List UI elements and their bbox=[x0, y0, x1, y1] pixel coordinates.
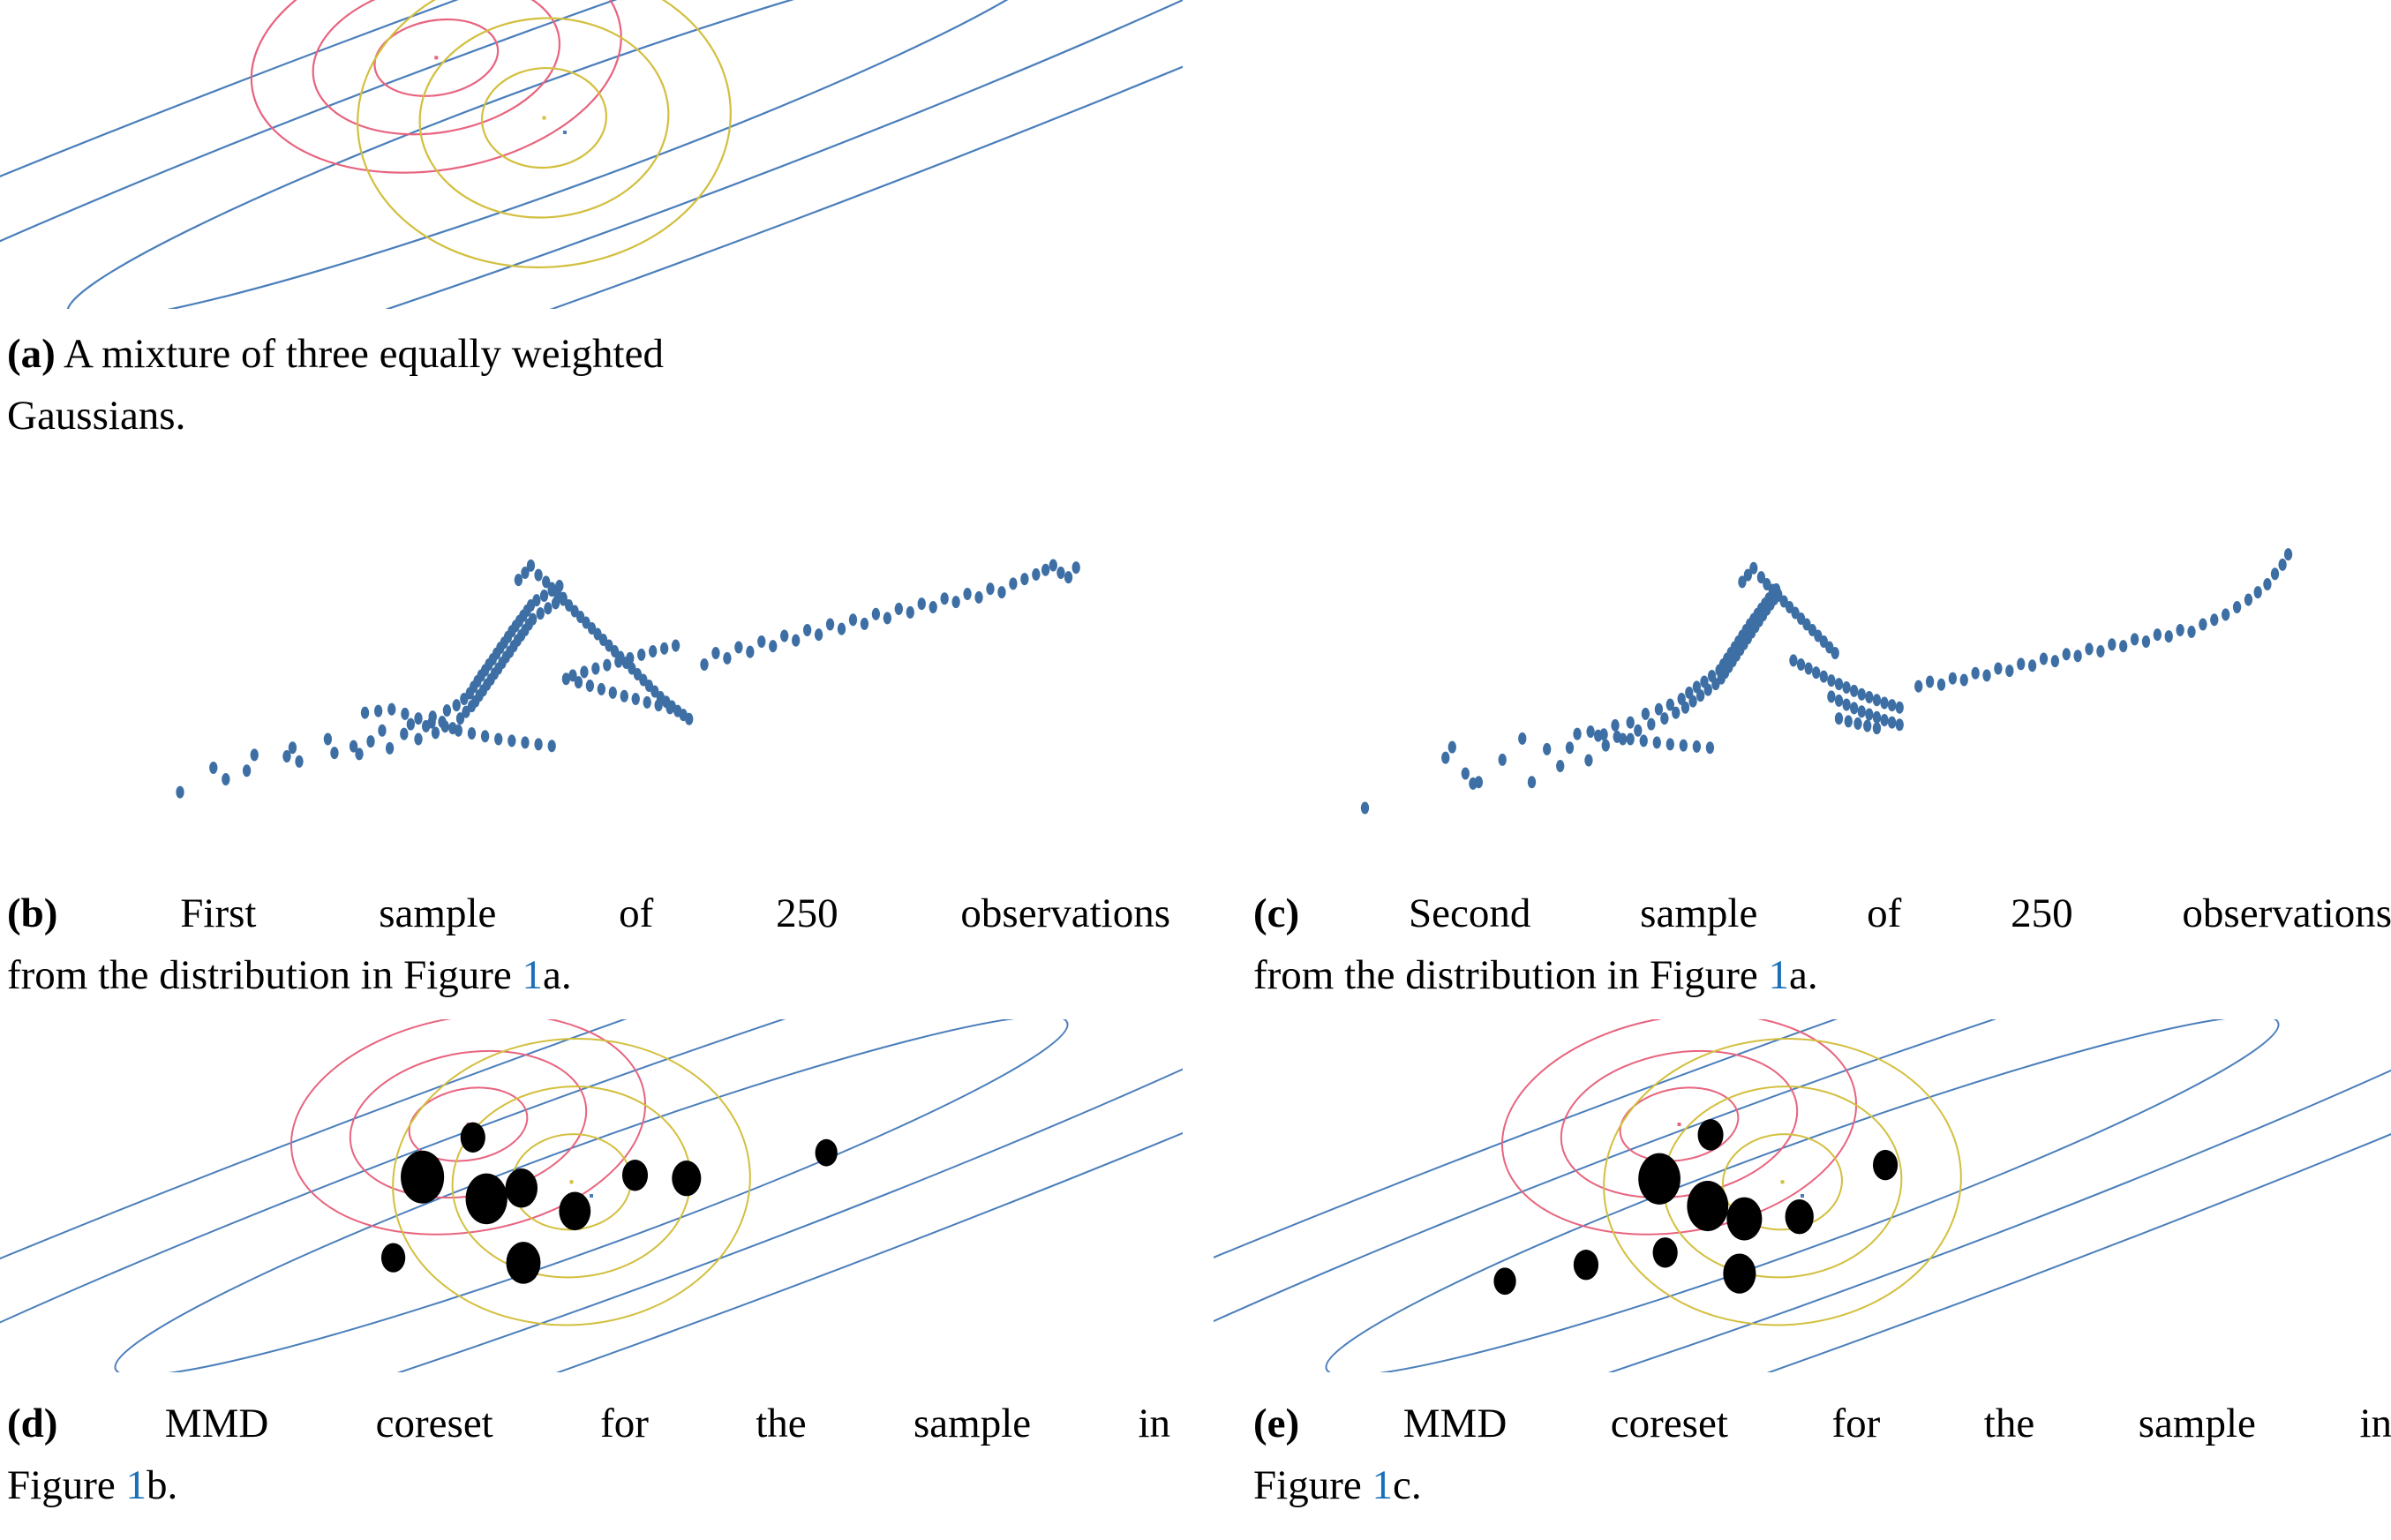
sample-point bbox=[1704, 684, 1712, 696]
sample-point bbox=[1914, 680, 1922, 693]
caption-c-line1: (c) Second sample of 250 observations bbox=[1253, 883, 2391, 944]
gaussian-contour-broad-correlated-gaussian bbox=[0, 0, 1183, 309]
sample-point bbox=[1831, 647, 1839, 659]
sample-point bbox=[534, 738, 542, 750]
caption-b-label: (b) bbox=[7, 890, 57, 936]
sample-point bbox=[1693, 740, 1701, 753]
sample-point bbox=[1827, 674, 1835, 687]
sample-point bbox=[386, 742, 394, 755]
sample-point bbox=[575, 676, 583, 688]
caption-c-text2-post: a. bbox=[1789, 952, 1818, 998]
sample-point bbox=[2165, 630, 2173, 642]
sample-point bbox=[441, 720, 449, 732]
caption-c: (c) Second sample of 250 observations fr… bbox=[1253, 883, 2391, 1006]
sample-point bbox=[481, 730, 489, 742]
sample-point bbox=[295, 755, 303, 768]
caption-e-figure-link[interactable]: 1 bbox=[1372, 1462, 1393, 1508]
sample-point bbox=[2063, 648, 2071, 660]
coreset-point bbox=[672, 1161, 701, 1196]
sample-point bbox=[527, 560, 535, 572]
coreset-point bbox=[1574, 1250, 1598, 1280]
sample-point bbox=[1863, 720, 1871, 732]
sample-point bbox=[548, 740, 556, 752]
coreset-point bbox=[1786, 1199, 1814, 1234]
sample-point bbox=[1586, 725, 1594, 738]
sample-point bbox=[1880, 714, 1888, 726]
sample-point bbox=[2210, 613, 2218, 626]
sample-point bbox=[1896, 718, 1904, 731]
sample-point bbox=[1888, 699, 1896, 711]
coreset-point bbox=[816, 1139, 838, 1167]
sample-point bbox=[1949, 672, 1957, 685]
sample-point bbox=[2278, 559, 2286, 571]
caption-d-figure-link[interactable]: 1 bbox=[125, 1462, 147, 1508]
component-mean-marker bbox=[1781, 1180, 1785, 1183]
caption-d-text2-pre: Figure bbox=[7, 1462, 125, 1508]
coreset-point bbox=[401, 1151, 444, 1204]
sample-point bbox=[609, 687, 617, 699]
sample-point bbox=[603, 659, 611, 672]
contour-ring bbox=[301, 0, 572, 153]
sample-point bbox=[2271, 567, 2279, 580]
sample-point bbox=[1888, 717, 1896, 729]
caption-c-line2: from the distribution in Figure 1a. bbox=[1253, 944, 2391, 1006]
sample-point bbox=[2040, 652, 2048, 665]
sample-point bbox=[443, 704, 451, 717]
sample-point bbox=[1462, 767, 1470, 779]
sample-point bbox=[1528, 776, 1536, 788]
sample-point bbox=[2199, 618, 2207, 630]
panel-c-svg bbox=[1214, 512, 2391, 865]
caption-b: (b) First sample of 250 observations fro… bbox=[7, 883, 1170, 1006]
sample-point bbox=[586, 680, 594, 692]
sample-point bbox=[1634, 725, 1642, 737]
sample-point bbox=[1842, 698, 1850, 710]
sample-point bbox=[883, 612, 891, 624]
sample-point bbox=[361, 707, 369, 719]
coreset-point bbox=[622, 1160, 648, 1191]
sample-point bbox=[672, 640, 680, 652]
sample-point bbox=[1873, 694, 1881, 706]
sample-point bbox=[1599, 728, 1607, 740]
component-mean-marker bbox=[590, 1194, 593, 1198]
sample-point bbox=[792, 635, 800, 647]
sample-point bbox=[626, 652, 634, 665]
sample-point bbox=[544, 602, 552, 614]
sample-point bbox=[1653, 736, 1661, 748]
coreset-point bbox=[466, 1174, 508, 1225]
sample-point bbox=[1797, 658, 1805, 671]
sample-point bbox=[1835, 678, 1843, 690]
sample-point bbox=[1041, 564, 1049, 576]
component-mean-marker bbox=[543, 116, 546, 120]
coreset-points bbox=[381, 1123, 838, 1284]
caption-c-figure-link[interactable]: 1 bbox=[1769, 952, 1790, 998]
panel-c-scatter-plot bbox=[1214, 512, 2391, 865]
panel-b-svg bbox=[0, 512, 1183, 865]
sample-point bbox=[378, 725, 386, 737]
caption-c-label: (c) bbox=[1253, 890, 1299, 936]
coreset-points bbox=[1493, 1119, 1898, 1295]
component-mean-marker bbox=[563, 131, 567, 134]
sample-point bbox=[660, 642, 668, 655]
sample-point bbox=[1858, 705, 1866, 717]
component-mean-marker bbox=[570, 1180, 574, 1183]
sample-point bbox=[929, 601, 937, 613]
sample-point bbox=[1926, 675, 1934, 687]
contour-ring bbox=[0, 0, 1183, 309]
sample-point bbox=[1020, 573, 1028, 585]
caption-b-figure-link[interactable]: 1 bbox=[523, 952, 544, 998]
sample-point bbox=[529, 613, 537, 626]
sample-point bbox=[243, 764, 251, 777]
sample-point bbox=[614, 656, 622, 668]
sample-point bbox=[2187, 626, 2195, 638]
panel-e-coreset-plot bbox=[1214, 1019, 2391, 1372]
sample-point bbox=[1556, 760, 1564, 772]
sample-point bbox=[1827, 690, 1835, 702]
figure-root: (a) A mixture of three equally weighted … bbox=[0, 0, 2391, 1540]
sample-points bbox=[176, 560, 1080, 799]
sample-point bbox=[2051, 655, 2059, 667]
sample-point bbox=[1627, 732, 1635, 745]
sample-point bbox=[468, 727, 476, 740]
caption-e-text1: MMD coreset for the sample in bbox=[1403, 1401, 2391, 1446]
sample-point bbox=[2284, 548, 2292, 560]
sample-point bbox=[330, 747, 338, 759]
sample-point bbox=[620, 690, 628, 702]
sample-point bbox=[1873, 722, 1881, 734]
coreset-point bbox=[507, 1242, 541, 1283]
caption-e-label: (e) bbox=[1253, 1401, 1299, 1446]
sample-point bbox=[643, 696, 651, 709]
panel-d-coreset-plot bbox=[0, 1019, 1183, 1372]
sample-point bbox=[2244, 594, 2252, 606]
sample-point bbox=[1584, 755, 1592, 767]
sample-point bbox=[826, 618, 834, 630]
sample-point bbox=[849, 613, 857, 626]
sample-point bbox=[1789, 654, 1797, 666]
coreset-point bbox=[506, 1168, 538, 1207]
caption-a-label: (a) bbox=[7, 331, 56, 377]
sample-point bbox=[1064, 571, 1072, 583]
sample-point bbox=[1688, 695, 1696, 708]
sample-point bbox=[711, 647, 719, 659]
caption-d-line1: (d) MMD coreset for the sample in bbox=[7, 1393, 1170, 1454]
caption-e-text2-pre: Figure bbox=[1253, 1462, 1372, 1508]
sample-point bbox=[1499, 754, 1507, 766]
caption-d-text2-post: b. bbox=[147, 1462, 177, 1508]
sample-point bbox=[515, 574, 523, 586]
sample-point bbox=[1749, 562, 1757, 575]
sample-point bbox=[1647, 718, 1655, 731]
caption-a: (a) A mixture of three equally weighted … bbox=[7, 323, 1170, 447]
caption-d-text1: MMD coreset for the sample in bbox=[165, 1401, 1170, 1446]
sample-point bbox=[414, 712, 422, 725]
caption-d-label: (d) bbox=[7, 1401, 57, 1446]
sample-point bbox=[1613, 731, 1620, 743]
caption-b-line1: (b) First sample of 250 observations bbox=[7, 883, 1170, 944]
gaussian-contour-upper-left-gaussian bbox=[1485, 1019, 1874, 1261]
sample-point bbox=[1441, 752, 1449, 764]
coreset-point bbox=[461, 1123, 485, 1153]
sample-point bbox=[951, 596, 959, 608]
sample-point bbox=[2005, 665, 2013, 677]
caption-d: (d) MMD coreset for the sample in Figure… bbox=[7, 1393, 1170, 1516]
sample-point bbox=[769, 640, 777, 652]
sample-point bbox=[1804, 663, 1812, 675]
sample-point bbox=[427, 717, 435, 729]
sample-point bbox=[453, 699, 461, 711]
sample-point bbox=[1611, 719, 1619, 732]
sample-point bbox=[1865, 709, 1873, 721]
sample-point bbox=[940, 592, 948, 605]
gaussian-contour-broad-correlated-gaussian bbox=[1214, 1019, 2391, 1372]
panel-a-contour-plot bbox=[0, 0, 1183, 309]
panel-e-svg bbox=[1214, 1019, 2391, 1372]
coreset-point bbox=[1726, 1198, 1762, 1241]
sample-point bbox=[1602, 740, 1610, 752]
sample-point bbox=[637, 649, 645, 661]
sample-point bbox=[685, 713, 693, 725]
sample-point bbox=[1845, 715, 1853, 727]
caption-b-text2-pre: from the distribution in Figure bbox=[7, 952, 523, 998]
sample-point bbox=[414, 732, 422, 745]
component-mean-marker bbox=[1678, 1123, 1681, 1126]
sample-point bbox=[1666, 738, 1674, 750]
sample-point bbox=[1660, 712, 1668, 725]
sample-point bbox=[366, 735, 374, 747]
gaussian-contour-broad-correlated-gaussian bbox=[0, 1019, 1183, 1372]
panel-d-svg bbox=[0, 1019, 1183, 1372]
sample-point bbox=[1873, 711, 1881, 724]
sample-point bbox=[1448, 741, 1456, 754]
sample-point bbox=[734, 641, 742, 653]
coreset-point bbox=[1698, 1119, 1724, 1150]
sample-point bbox=[2154, 628, 2162, 641]
sample-point bbox=[918, 597, 926, 610]
sample-point bbox=[455, 725, 462, 737]
sample-point bbox=[534, 569, 542, 582]
contour-ring bbox=[348, 0, 741, 280]
sample-point bbox=[1850, 702, 1858, 714]
sample-point bbox=[2073, 650, 2081, 662]
sample-point bbox=[1680, 740, 1688, 752]
sample-point bbox=[521, 736, 529, 748]
sample-point bbox=[2096, 645, 2104, 657]
sample-point bbox=[906, 606, 914, 619]
sample-point bbox=[861, 618, 868, 630]
sample-point bbox=[591, 663, 599, 675]
sample-point bbox=[2233, 601, 2241, 613]
sample-point bbox=[1960, 674, 1968, 687]
sample-point bbox=[540, 590, 548, 602]
sample-point bbox=[2222, 608, 2229, 620]
sample-point bbox=[2254, 586, 2262, 598]
caption-e-line1: (e) MMD coreset for the sample in bbox=[1253, 1393, 2391, 1454]
sample-point bbox=[289, 741, 297, 754]
sample-point bbox=[532, 594, 540, 606]
panel-b-scatter-plot bbox=[0, 512, 1183, 865]
sample-point bbox=[974, 591, 982, 604]
coreset-point bbox=[381, 1243, 405, 1272]
sample-point bbox=[1655, 703, 1663, 716]
sample-point bbox=[598, 683, 605, 695]
sample-point bbox=[401, 708, 409, 720]
caption-e-text2-post: c. bbox=[1393, 1462, 1422, 1508]
sample-point bbox=[757, 635, 765, 648]
caption-e-line2: Figure 1c. bbox=[1253, 1454, 2391, 1516]
component-mean-marker bbox=[434, 56, 438, 59]
sample-point bbox=[1573, 728, 1581, 740]
sample-point bbox=[1858, 688, 1866, 701]
caption-e: (e) MMD coreset for the sample in Figure… bbox=[1253, 1393, 2391, 1516]
sample-point bbox=[963, 588, 971, 600]
sample-point bbox=[1937, 679, 1945, 691]
sample-point bbox=[1566, 741, 1574, 754]
sample-point bbox=[1009, 577, 1017, 590]
sample-point bbox=[780, 629, 788, 642]
component-mean-marker bbox=[1801, 1194, 1804, 1198]
sample-point bbox=[2085, 642, 2093, 655]
caption-a-line2: Gaussians. bbox=[7, 385, 1170, 447]
sample-point bbox=[176, 786, 184, 799]
sample-point bbox=[803, 624, 811, 636]
sample-point bbox=[2142, 635, 2150, 648]
coreset-point bbox=[1687, 1181, 1728, 1231]
coreset-point bbox=[1873, 1150, 1898, 1180]
sample-point bbox=[1640, 734, 1648, 747]
sample-point bbox=[1971, 667, 1979, 680]
sample-point bbox=[1049, 560, 1057, 572]
sample-point bbox=[746, 646, 754, 658]
sample-point bbox=[1475, 776, 1483, 788]
sample-point bbox=[1706, 741, 1714, 754]
sample-point bbox=[355, 747, 363, 760]
sample-point bbox=[1835, 712, 1843, 725]
sample-point bbox=[815, 628, 823, 641]
sample-point bbox=[1994, 663, 2002, 675]
sample-point bbox=[997, 586, 1005, 598]
sample-point bbox=[2131, 633, 2139, 645]
caption-c-text1: Second sample of 250 observations bbox=[1409, 890, 2391, 936]
sample-points bbox=[1361, 548, 2292, 814]
caption-b-line2: from the distribution in Figure 1a. bbox=[7, 944, 1170, 1006]
sample-point bbox=[209, 762, 217, 774]
sample-point bbox=[1896, 702, 1904, 714]
sample-point bbox=[723, 652, 731, 665]
sample-point bbox=[407, 718, 415, 731]
sample-point bbox=[1672, 707, 1680, 719]
sample-point bbox=[1518, 732, 1526, 745]
sample-point bbox=[222, 773, 229, 785]
caption-b-text1: First sample of 250 observations bbox=[180, 890, 1170, 936]
coreset-point bbox=[1493, 1267, 1515, 1295]
sample-point bbox=[1032, 568, 1040, 581]
sample-point bbox=[1842, 681, 1850, 694]
caption-a-line1: (a) A mixture of three equally weighted bbox=[7, 323, 1170, 385]
sample-point bbox=[1543, 743, 1551, 755]
contour-ring bbox=[1485, 1019, 1874, 1261]
caption-c-text2-pre: from the distribution in Figure bbox=[1253, 952, 1769, 998]
panel-a-svg bbox=[0, 0, 1183, 309]
sample-point bbox=[1865, 691, 1873, 703]
sample-point bbox=[1982, 669, 1990, 681]
caption-b-text2-post: a. bbox=[543, 952, 572, 998]
caption-a-text1: A mixture of three equally weighted bbox=[64, 331, 664, 377]
sample-point bbox=[838, 623, 846, 635]
sample-point bbox=[1853, 717, 1861, 730]
sample-point bbox=[2119, 640, 2127, 652]
sample-point bbox=[2176, 624, 2184, 636]
sample-point bbox=[374, 705, 382, 717]
coreset-point bbox=[559, 1191, 590, 1230]
sample-point bbox=[1850, 685, 1858, 697]
sample-point bbox=[2108, 638, 2116, 650]
sample-point bbox=[400, 728, 408, 740]
sample-point bbox=[251, 748, 259, 761]
coreset-point bbox=[1723, 1253, 1756, 1293]
sample-point bbox=[632, 693, 640, 705]
sample-point bbox=[1820, 671, 1828, 683]
sample-point bbox=[1835, 695, 1843, 707]
sample-point bbox=[1056, 567, 1064, 579]
sample-point bbox=[872, 608, 880, 620]
sample-point bbox=[324, 732, 332, 745]
sample-point bbox=[2263, 578, 2271, 590]
sample-point bbox=[508, 734, 515, 747]
sample-point bbox=[649, 645, 657, 657]
sample-point bbox=[387, 703, 395, 716]
contour-ring bbox=[0, 0, 1183, 309]
sample-point bbox=[1361, 801, 1369, 814]
sample-point bbox=[580, 665, 588, 678]
sample-point bbox=[1681, 702, 1689, 714]
sample-point bbox=[1696, 689, 1704, 702]
gaussian-contour-center-right-gaussian bbox=[348, 0, 741, 280]
sample-point bbox=[1627, 717, 1635, 729]
sample-point bbox=[986, 582, 994, 595]
sample-point bbox=[1880, 697, 1888, 710]
sample-point bbox=[2028, 659, 2036, 672]
caption-d-line2: Figure 1b. bbox=[7, 1454, 1170, 1516]
sample-point bbox=[1642, 708, 1650, 720]
sample-point bbox=[654, 699, 662, 711]
sample-point bbox=[700, 658, 708, 671]
coreset-point bbox=[1653, 1237, 1678, 1267]
sample-point bbox=[1072, 561, 1080, 574]
sample-point bbox=[1812, 666, 1820, 679]
sample-point bbox=[665, 702, 673, 714]
sample-point bbox=[494, 732, 502, 745]
sample-point bbox=[895, 603, 903, 615]
sample-point bbox=[537, 607, 545, 620]
sample-point bbox=[2017, 657, 2025, 670]
coreset-point bbox=[1638, 1153, 1680, 1205]
